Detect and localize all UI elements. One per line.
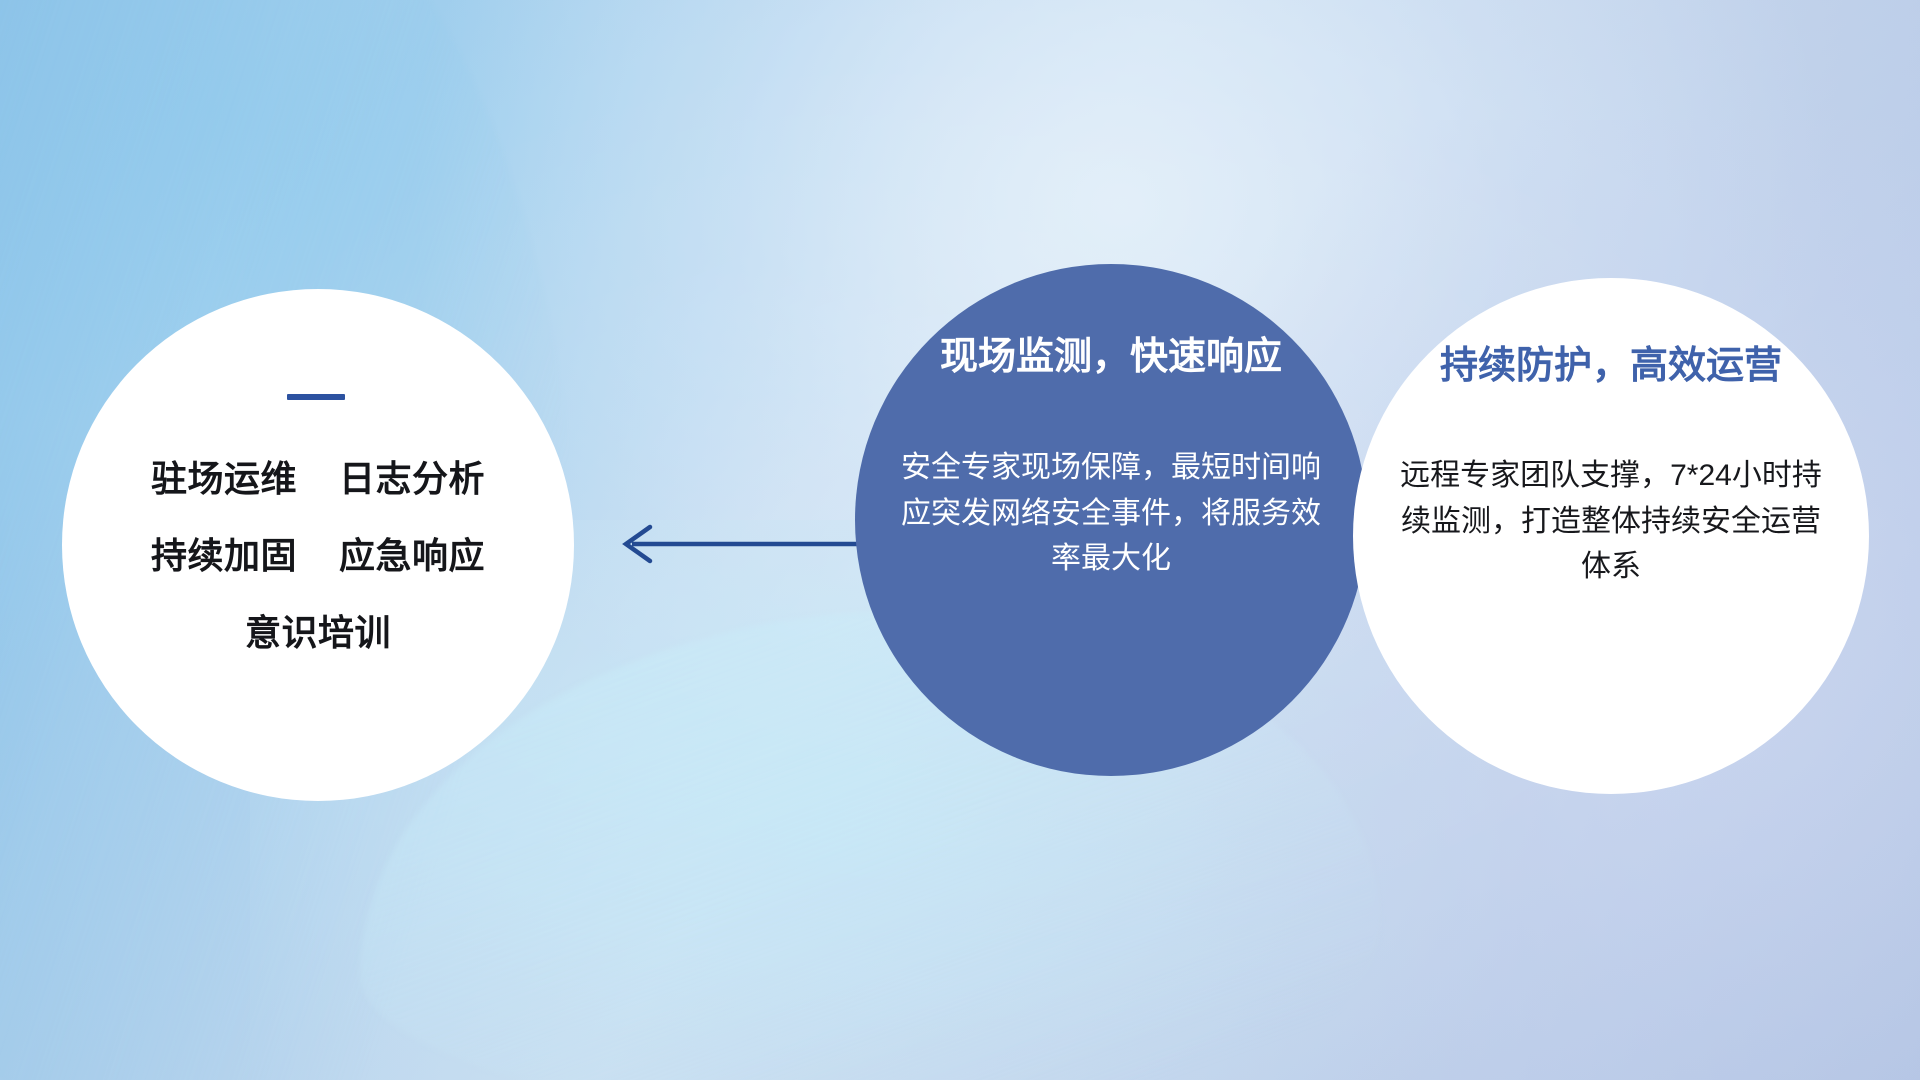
continuous-protection-title: 持续防护，高效运营 bbox=[1353, 344, 1869, 390]
slide-canvas: 驻场运维 日志分析 持续加固 应急响应 意识培训 现场监测，快速响应 安全专家现… bbox=[0, 0, 1920, 1080]
keyword-row: 驻场运维 日志分析 bbox=[62, 461, 574, 497]
onsite-monitoring-circle: 现场监测，快速响应 安全专家现场保障，最短时间响应突发网络安全事件，将服务效率最… bbox=[855, 264, 1367, 776]
onsite-monitoring-title: 现场监测，快速响应 bbox=[855, 335, 1367, 381]
keyword-row: 持续加固 应急响应 bbox=[62, 538, 574, 574]
keyword-row: 意识培训 bbox=[62, 615, 574, 651]
continuous-protection-circle: 持续防护，高效运营 远程专家团队支撑，7*24小时持续监测，打造整体持续安全运营… bbox=[1353, 278, 1869, 794]
short-dash-icon bbox=[287, 394, 345, 400]
left-keywords-circle: 驻场运维 日志分析 持续加固 应急响应 意识培训 bbox=[62, 289, 574, 801]
arrow-left-icon bbox=[596, 512, 896, 576]
onsite-monitoring-body: 安全专家现场保障，最短时间响应突发网络安全事件，将服务效率最大化 bbox=[895, 445, 1327, 582]
continuous-protection-body: 远程专家团队支撑，7*24小时持续监测，打造整体持续安全运营体系 bbox=[1387, 453, 1835, 590]
keyword-list: 驻场运维 日志分析 持续加固 应急响应 意识培训 bbox=[62, 461, 574, 651]
